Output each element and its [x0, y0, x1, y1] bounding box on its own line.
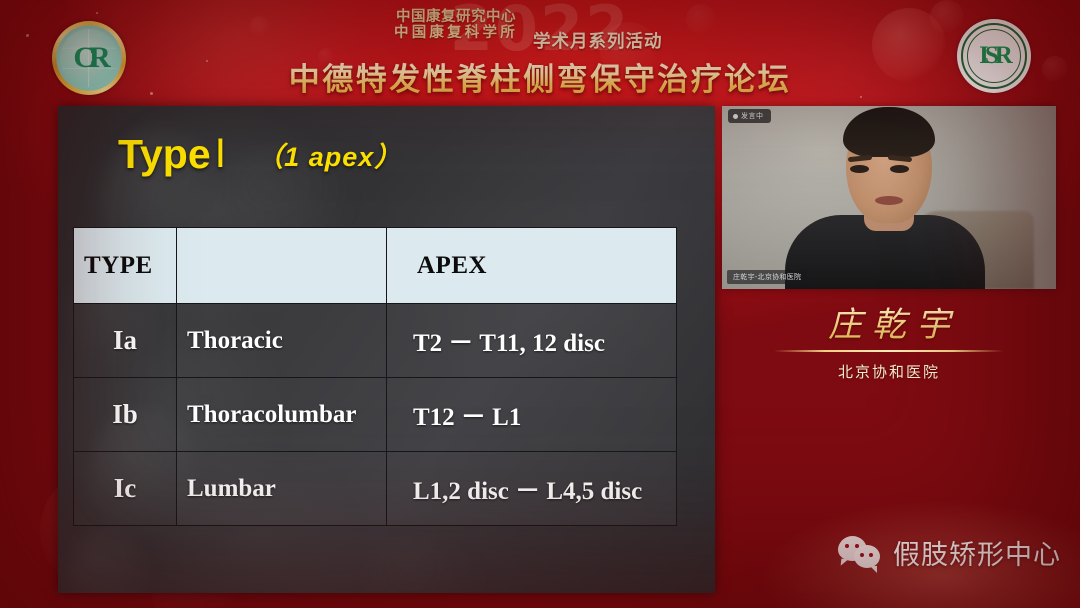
speaker-video-tile[interactable]: 发言中 庄乾宇-北京协和医院 — [722, 106, 1056, 289]
speaker-name: 庄乾宇 — [722, 297, 1056, 346]
gold-divider — [774, 350, 1004, 352]
classification-table: TYPE APEX Ia Thoracic T2 － T11, 12 disc … — [73, 227, 677, 526]
logo-left-monogram: CR — [73, 41, 104, 75]
isr-logo-icon: ISR — [957, 19, 1031, 93]
wechat-branding: 假肢矫形中心 — [838, 533, 1061, 572]
cell-apex: T2 － T11, 12 disc — [387, 304, 677, 378]
speaker-mouth — [875, 196, 903, 205]
table-row: Ib Thoracolumbar T12 － L1 — [74, 378, 677, 452]
table-row: Ia Thoracic T2 － T11, 12 disc — [74, 304, 677, 378]
column-header-blank — [177, 228, 387, 304]
cell-type: Ia — [74, 304, 177, 378]
slide-title-type: Type — [118, 131, 211, 177]
video-name-label: 庄乾宇-北京协和医院 — [727, 270, 807, 284]
event-header-banner: 2022 中国康复研究中心 中国康复科学所 学术月系列活动 中德特发性脊柱侧弯保… — [0, 0, 1080, 106]
logo-right-monogram: ISR — [979, 42, 1009, 70]
slide-title: TypeⅠ（1 apex） — [118, 131, 402, 178]
page-title: 中德特发性脊柱侧弯保守治疗论坛 — [0, 54, 1080, 99]
logo-right-ring: ISR — [961, 23, 1027, 89]
organizer-line-1: 中国康复研究中心 — [394, 10, 518, 26]
broadcast-screen: 2022 中国康复研究中心 中国康复科学所 学术月系列活动 中德特发性脊柱侧弯保… — [0, 0, 1080, 608]
cell-region: Lumbar — [177, 452, 387, 526]
cell-apex: L1,2 disc － L4,5 disc — [387, 452, 677, 526]
column-header-type: TYPE — [74, 228, 177, 304]
video-status-text: 发言中 — [741, 111, 764, 121]
globe-icon: CR — [60, 29, 118, 87]
cell-region: Thoracolumbar — [177, 378, 387, 452]
wechat-icon — [838, 536, 882, 570]
organizer-names: 中国康复研究中心 中国康复科学所 — [394, 10, 518, 42]
series-label: 学术月系列活动 — [533, 28, 663, 53]
slide-title-apex-note: （1 apex） — [256, 142, 402, 172]
video-status-badge: 发言中 — [728, 109, 771, 123]
cell-apex: T12 － L1 — [387, 378, 677, 452]
table-row: Ic Lumbar L1,2 disc － L4,5 disc — [74, 452, 677, 526]
cell-type: Ic — [74, 452, 177, 526]
table-header-row: TYPE APEX — [74, 228, 677, 304]
cell-region: Thoracic — [177, 304, 387, 378]
speaker-eye — [850, 165, 869, 173]
column-header-apex: APEX — [387, 228, 677, 304]
wechat-account-name: 假肢矫形中心 — [893, 533, 1061, 572]
slide-title-roman-numeral: Ⅰ — [215, 133, 227, 176]
speaker-info: 庄乾宇 北京协和医院 — [722, 297, 1056, 382]
crrc-logo-icon: CR — [52, 21, 126, 95]
organizer-line-2: 中国康复科学所 — [394, 26, 518, 42]
cell-type: Ib — [74, 378, 177, 452]
speaker-organization: 北京协和医院 — [722, 361, 1056, 382]
speaker-eye — [890, 165, 909, 173]
microphone-icon — [733, 114, 738, 119]
